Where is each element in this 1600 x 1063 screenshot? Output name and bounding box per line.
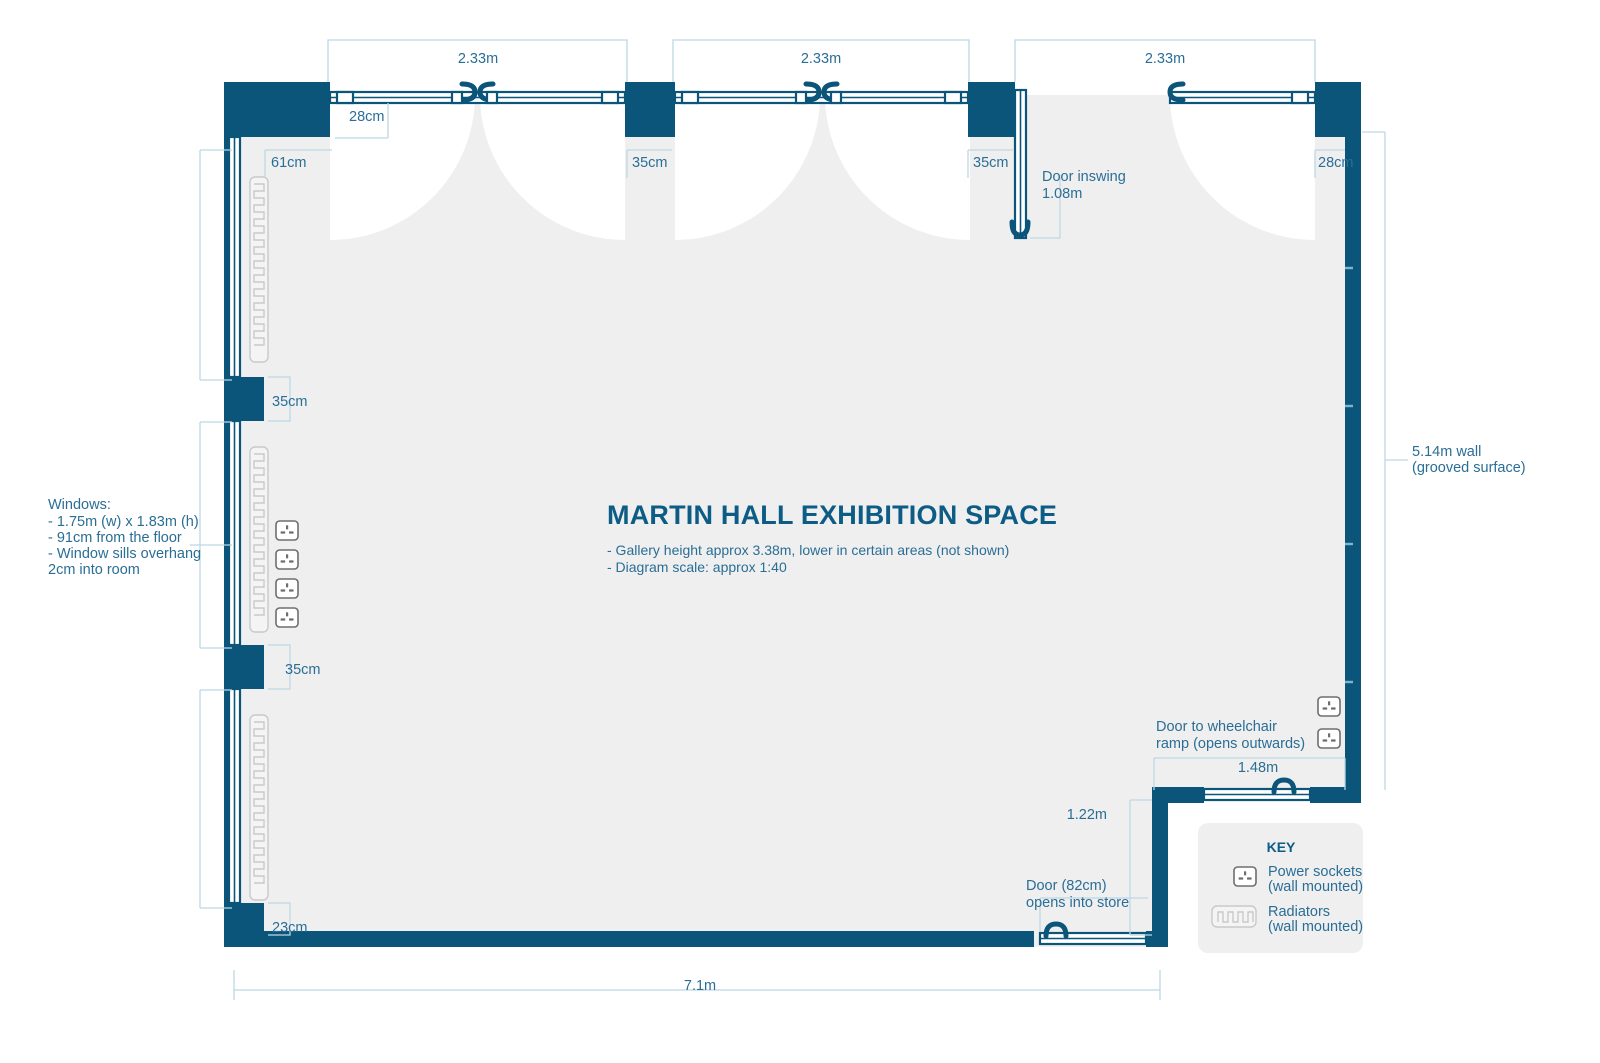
page-title: MARTIN HALL EXHIBITION SPACE: [607, 500, 1057, 530]
key-radiator-line-1: Radiators: [1268, 904, 1330, 920]
label-windows-line-3: - Window sills overhang: [48, 546, 201, 562]
radiator-icon-mid: [250, 447, 268, 632]
window-bay-1: [330, 84, 625, 103]
label-bay-2: 2.33m: [801, 51, 841, 67]
label-28cm-reveal: 28cm: [349, 109, 384, 125]
key-socket-line-1: Power sockets: [1268, 864, 1362, 880]
wall-bottom-left-run: [224, 931, 1034, 947]
dim-5.14m: [1362, 132, 1408, 790]
power-socket-icon: [276, 579, 298, 598]
power-socket-icon: [1234, 867, 1256, 886]
window-bay-3: [1170, 84, 1315, 103]
wall-notch-vertical: [1152, 787, 1168, 947]
label-1.22m: 1.22m: [1067, 807, 1107, 823]
wall-pier-top-mid-2: [968, 82, 1015, 137]
label-28cm-right: 28cm: [1318, 155, 1353, 171]
power-socket-icon: [276, 550, 298, 569]
window-left-mid: [229, 421, 240, 645]
label-windows-line-1: - 1.75m (w) x 1.83m (h): [48, 514, 199, 530]
key-radiator-line-2: (wall mounted): [1268, 919, 1363, 935]
power-socket-icon: [1318, 697, 1340, 716]
label-store-door-1: Door (82cm): [1026, 878, 1107, 894]
window-left-upper: [229, 137, 240, 377]
power-socket-icon: [1318, 729, 1340, 748]
key-socket-line-2: (wall mounted): [1268, 879, 1363, 895]
radiator-icon: [1212, 906, 1256, 927]
label-windows-line-2: - 91cm from the floor: [48, 530, 182, 546]
wall-notch-horizontal-left: [1152, 787, 1204, 803]
label-left-pier-upper: 35cm: [272, 394, 307, 410]
label-1.48m: 1.48m: [1238, 760, 1278, 776]
label-35cm-a: 35cm: [632, 155, 667, 171]
key-heading: KEY: [1267, 839, 1296, 855]
power-socket-icon: [276, 521, 298, 540]
floor-plan-diagram: 2.33m 2.33m 2.33m 28cm 61cm 35cm 35cm 28…: [0, 0, 1600, 1063]
label-right-wall-1: 5.14m wall: [1412, 444, 1481, 460]
power-socket-icon: [276, 608, 298, 627]
label-bay-3: 2.33m: [1145, 51, 1185, 67]
label-ramp-door-1: Door to wheelchair: [1156, 719, 1277, 735]
label-store-door-2: opens into store: [1026, 895, 1129, 911]
key-panel: KEY Power sockets (wall mounted) Radiato…: [1198, 823, 1363, 953]
door-inswing-top: [1012, 90, 1060, 238]
radiators: [250, 177, 268, 900]
wall-pier-left-upper: [224, 377, 264, 421]
subtitle-line-1: - Gallery height approx 3.38m, lower in …: [607, 542, 1009, 558]
label-left-pier-lower: 35cm: [285, 662, 320, 678]
label-door-inswing-2: 1.08m: [1042, 186, 1082, 202]
label-35cm-b: 35cm: [973, 155, 1008, 171]
label-23cm: 23cm: [272, 920, 307, 936]
label-7.1m: 7.1m: [684, 978, 716, 994]
label-bay-1: 2.33m: [458, 51, 498, 67]
window-bay-2: [675, 84, 968, 103]
label-windows-line-4: 2cm into room: [48, 562, 140, 578]
label-windows-heading: Windows:: [48, 497, 111, 513]
wall-right: [1345, 82, 1361, 800]
wall-pier-left-lower: [224, 645, 264, 689]
label-61cm: 61cm: [271, 155, 306, 171]
label-right-wall-2: (grooved surface): [1412, 460, 1526, 476]
label-door-inswing-1: Door inswing: [1042, 169, 1126, 185]
plan-svg: 2.33m 2.33m 2.33m 28cm 61cm 35cm 35cm 28…: [0, 0, 1600, 1063]
window-left-lower: [229, 689, 240, 903]
radiator-icon-upper: [250, 177, 268, 362]
radiator-icon-lower: [250, 715, 268, 900]
label-ramp-door-2: ramp (opens outwards): [1156, 736, 1305, 752]
subtitle-line-2: - Diagram scale: approx 1:40: [607, 559, 787, 575]
wall-notch-horizontal-right: [1310, 787, 1361, 803]
wall-pier-top-mid-1: [625, 82, 675, 137]
